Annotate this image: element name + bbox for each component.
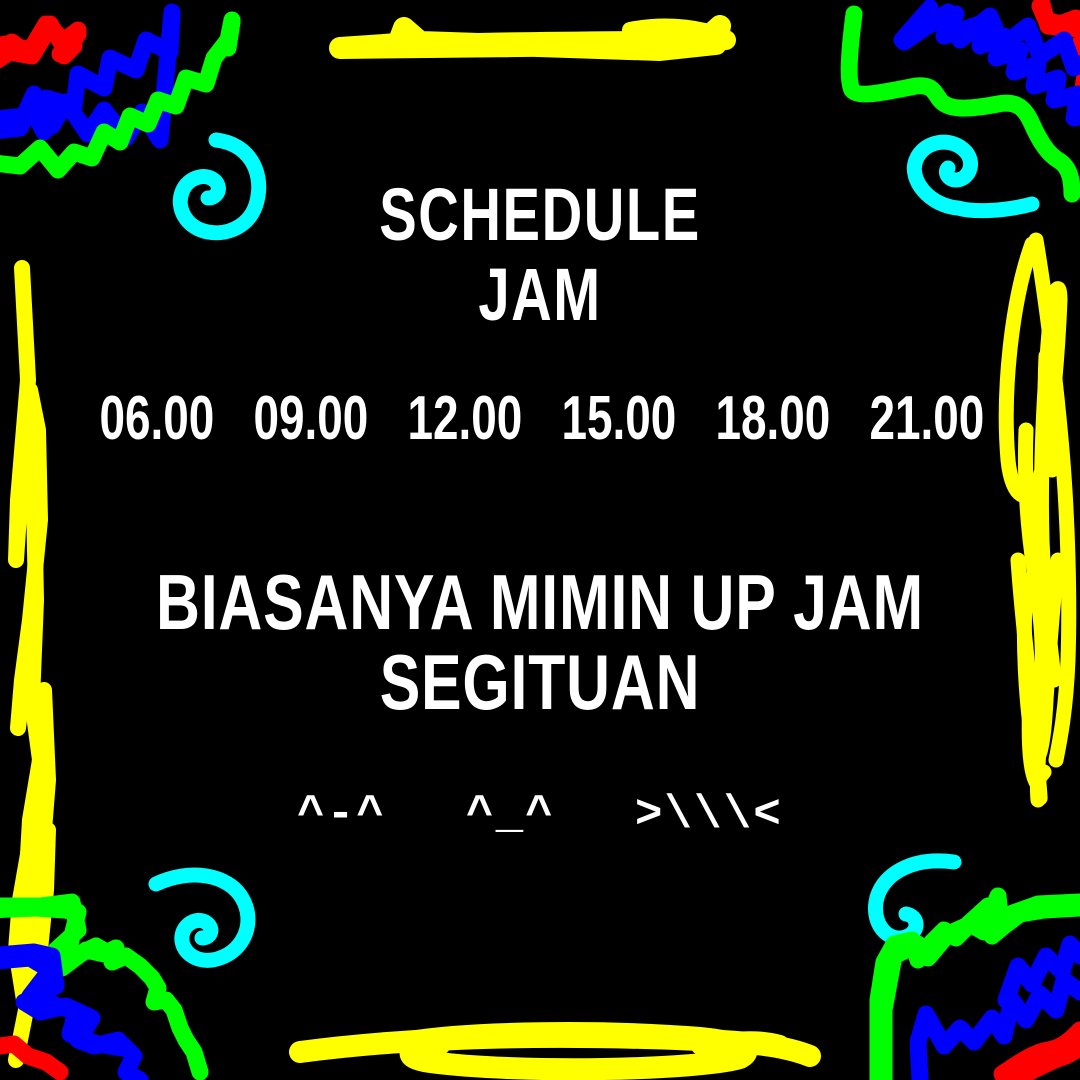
message-line-1: BIASANYA MIMIN UP JAM <box>119 563 961 641</box>
schedule-time-chip: 21.00 <box>868 388 982 450</box>
kaomoji-item: ^-^ <box>297 792 386 838</box>
poster-canvas: SCHEDULE JAM 06.0009.0012.0015.0018.0021… <box>0 0 1080 1080</box>
kaomoji-item: >\\\< <box>635 792 783 838</box>
schedule-time-chip: 15.00 <box>560 388 674 450</box>
schedule-time-chip: 18.00 <box>714 388 828 450</box>
kaomoji-item: ^_^ <box>466 792 555 838</box>
content-layer: SCHEDULE JAM 06.0009.0012.0015.0018.0021… <box>0 0 1080 1080</box>
page-title-line-2: JAM <box>130 258 951 332</box>
schedule-time-chip: 06.00 <box>98 388 212 450</box>
kaomoji-row: ^-^^_^>\\\< <box>0 792 1080 838</box>
message-line-2: SEGITUAN <box>119 643 961 721</box>
schedule-times-row: 06.0009.0012.0015.0018.0021.00 <box>0 388 1080 450</box>
page-title-line-1: SCHEDULE <box>130 178 951 252</box>
schedule-time-chip: 12.00 <box>406 388 520 450</box>
schedule-time-chip: 09.00 <box>252 388 366 450</box>
